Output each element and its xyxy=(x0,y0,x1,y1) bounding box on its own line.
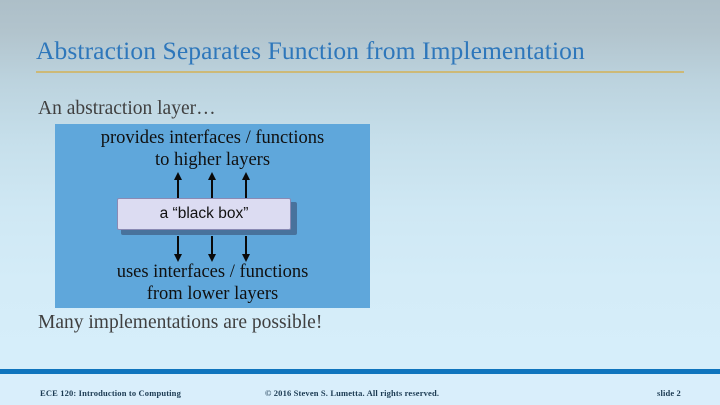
layer-caption-bottom-line1: uses interfaces / functions xyxy=(55,261,370,283)
footer-copyright-label: © 2016 Steven S. Lumetta. All rights res… xyxy=(265,388,439,398)
arrow-up-icon xyxy=(208,172,217,198)
arrow-shaft xyxy=(211,178,213,198)
page-title: Abstraction Separates Function from Impl… xyxy=(36,36,686,66)
layer-caption-top-line1: provides interfaces / functions xyxy=(55,127,370,149)
title-underline-rule xyxy=(36,71,684,73)
arrow-up-icon xyxy=(174,172,183,198)
arrow-shaft xyxy=(177,178,179,198)
arrow-group-down xyxy=(55,236,370,262)
arrow-up-icon xyxy=(242,172,251,198)
arrow-shaft xyxy=(245,178,247,198)
footer-slide-number: slide 2 xyxy=(657,388,681,398)
footer-course-label: ECE 120: Introduction to Computing xyxy=(40,388,181,398)
arrow-group-up xyxy=(55,172,370,198)
closing-text: Many implementations are possible! xyxy=(38,311,322,334)
layer-caption-top-line2: to higher layers xyxy=(55,149,370,171)
arrow-shaft xyxy=(245,236,247,256)
arrow-shaft xyxy=(177,236,179,256)
black-box-label: a “black box” xyxy=(160,205,249,223)
layer-caption-bottom-line2: from lower layers xyxy=(55,283,370,305)
slide-canvas: Abstraction Separates Function from Impl… xyxy=(0,0,720,405)
footer: ECE 120: Introduction to Computing © 201… xyxy=(0,374,720,405)
lead-in-text: An abstraction layer… xyxy=(38,97,216,120)
layer-caption-top: provides interfaces / functions to highe… xyxy=(55,127,370,171)
arrow-down-icon xyxy=(174,236,183,262)
layer-caption-bottom: uses interfaces / functions from lower l… xyxy=(55,261,370,305)
arrow-down-icon xyxy=(242,236,251,262)
black-box: a “black box” xyxy=(117,198,291,230)
arrow-down-icon xyxy=(208,236,217,262)
arrow-shaft xyxy=(211,236,213,256)
